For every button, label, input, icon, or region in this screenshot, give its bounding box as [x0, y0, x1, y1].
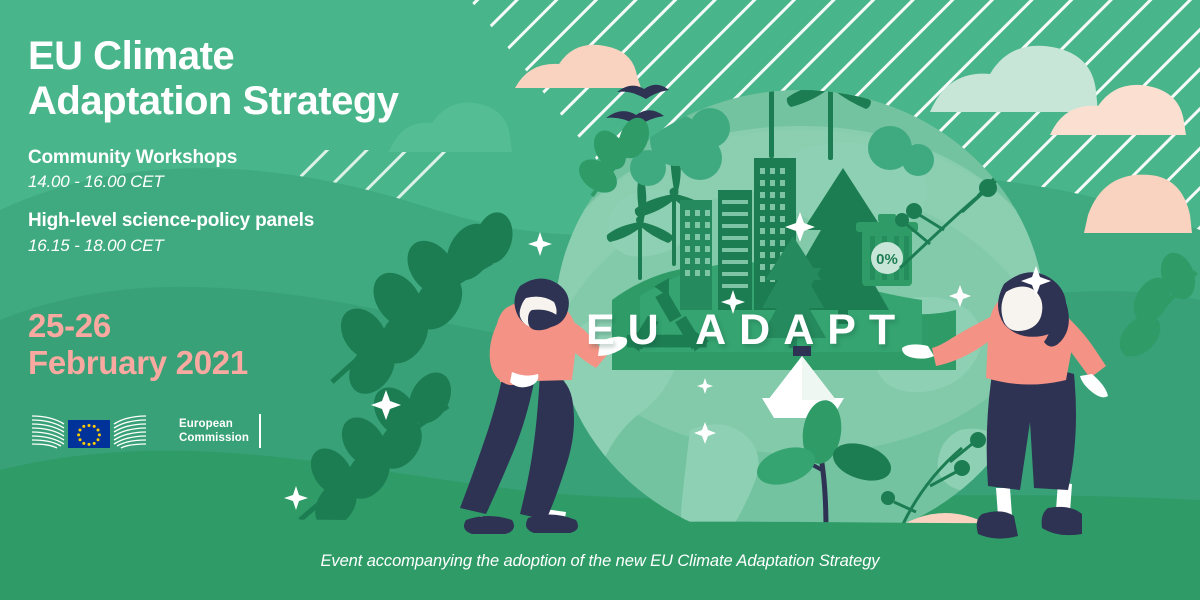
eu-adapt-wordmark: EU ADAPT [586, 306, 908, 355]
page-title: EU Climate Adaptation Strategy [28, 34, 468, 124]
ec-flag-emblem-icon [30, 408, 175, 454]
session-time: 14.00 - 16.00 CET [28, 171, 468, 193]
event-banner: 0% [0, 0, 1200, 600]
session-item: High-level science-policy panels 16.15 -… [28, 209, 468, 257]
ec-logo-text: European Commission [179, 417, 249, 445]
session-name: High-level science-policy panels [28, 209, 468, 233]
date-month-year: February 2021 [28, 345, 248, 382]
headline-block: EU Climate Adaptation Strategy Community… [28, 34, 468, 273]
session-item: Community Workshops 14.00 - 16.00 CET [28, 146, 468, 194]
ec-name-line-2: Commission [179, 431, 249, 445]
title-line-2: Adaptation Strategy [28, 79, 399, 123]
logo-stripes-right [114, 416, 146, 448]
event-caption: Event accompanying the adoption of the n… [0, 552, 1200, 571]
event-date-block: 25-26 February 2021 [28, 308, 248, 382]
european-commission-logo: European Commission [30, 408, 261, 454]
ec-name-line-1: European [179, 417, 249, 431]
session-name: Community Workshops [28, 146, 468, 170]
bin-percentage-label: 0% [876, 251, 898, 268]
ec-logo-divider [259, 414, 261, 448]
session-time: 16.15 - 18.00 CET [28, 235, 468, 257]
logo-stripes-left [32, 416, 64, 448]
title-line-1: EU Climate [28, 34, 234, 78]
date-days: 25-26 [28, 308, 248, 345]
